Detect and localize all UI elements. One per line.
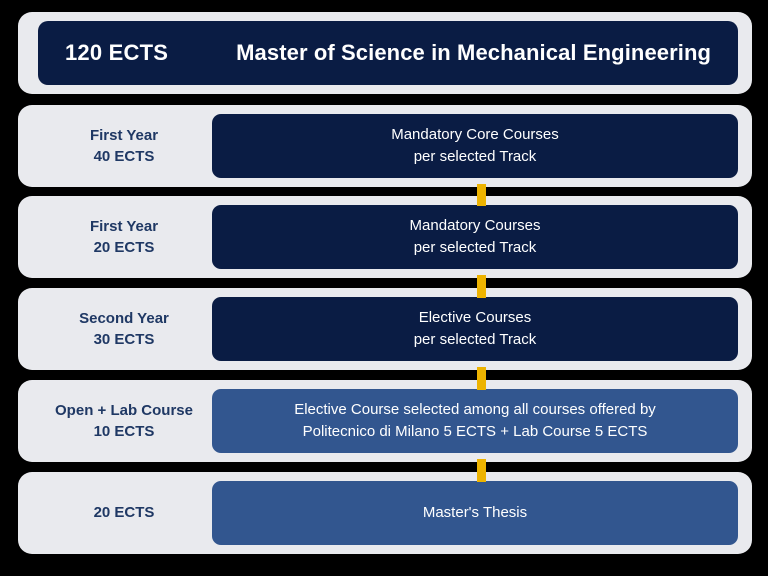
row-card-4: Open + Lab Course 10 ECTS Elective Cours… [18,380,752,462]
row-label-3-line2: 30 ECTS [94,329,155,350]
header-banner: 120 ECTS Master of Science in Mechanical… [38,21,738,85]
row-box-2: Mandatory Courses per selected Track [212,205,738,269]
row-label-1-line1: First Year [90,125,158,146]
row-box-1-line1: Mandatory Core Courses [391,124,559,147]
row-card-2: First Year 20 ECTS Mandatory Courses per… [18,196,752,278]
header-total-ects: 120 ECTS [65,40,168,66]
row-box-4: Elective Course selected among all cours… [212,389,738,453]
row-label-5: 20 ECTS [18,472,230,554]
connector-2-3 [477,275,486,298]
row-box-4-line1: Elective Course selected among all cours… [294,399,656,422]
connector-1-2 [477,184,486,206]
connector-3-4 [477,367,486,390]
header-program-title: Master of Science in Mechanical Engineer… [236,40,711,66]
row-card-1: First Year 40 ECTS Mandatory Core Course… [18,105,752,187]
row-box-3-line2: per selected Track [414,329,537,352]
row-box-3: Elective Courses per selected Track [212,297,738,361]
row-label-4: Open + Lab Course 10 ECTS [18,380,230,462]
row-label-3-line1: Second Year [79,308,169,329]
row-label-3: Second Year 30 ECTS [18,288,230,370]
row-box-5: Master's Thesis [212,481,738,545]
row-label-1: First Year 40 ECTS [18,105,230,187]
connector-4-5 [477,459,486,482]
row-label-4-line1: Open + Lab Course [55,400,193,421]
curriculum-diagram: 120 ECTS Master of Science in Mechanical… [0,0,768,576]
row-box-1: Mandatory Core Courses per selected Trac… [212,114,738,178]
row-label-2-line2: 20 ECTS [94,237,155,258]
row-label-4-line2: 10 ECTS [94,421,155,442]
row-box-1-line2: per selected Track [414,146,537,169]
row-box-4-line2: Politecnico di Milano 5 ECTS + Lab Cours… [303,421,648,444]
row-card-3: Second Year 30 ECTS Elective Courses per… [18,288,752,370]
row-box-2-line1: Mandatory Courses [410,215,541,238]
row-box-3-line1: Elective Courses [419,307,532,330]
row-label-2: First Year 20 ECTS [18,196,230,278]
row-label-2-line1: First Year [90,216,158,237]
row-box-2-line2: per selected Track [414,237,537,260]
header-card: 120 ECTS Master of Science in Mechanical… [18,12,752,94]
row-box-5-line1: Master's Thesis [423,502,527,525]
row-label-5-line2: 20 ECTS [94,502,155,523]
row-card-5: 20 ECTS Master's Thesis [18,472,752,554]
row-label-1-line2: 40 ECTS [94,146,155,167]
